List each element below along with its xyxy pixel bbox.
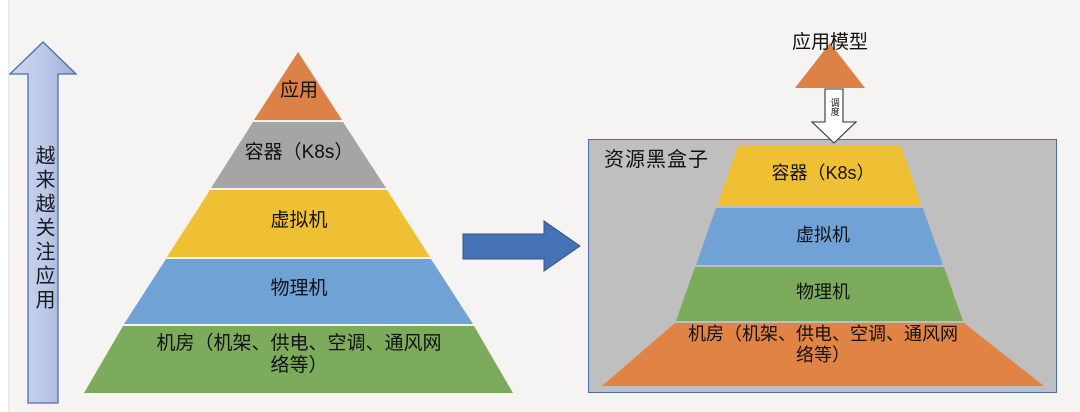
- schedule-arrow-label: 调度: [829, 98, 838, 116]
- trap-layer-2: [676, 267, 963, 321]
- trap-layer-1: [696, 208, 943, 265]
- transition-arrow: [462, 219, 582, 274]
- trap-layer-3: [602, 323, 1044, 386]
- up-arrow-icon: [8, 40, 78, 405]
- pyramid-layer-3: [124, 259, 473, 324]
- pyramid-shape: [83, 50, 515, 395]
- right-arrow-icon: [462, 219, 582, 274]
- trap-layer-0: [717, 146, 922, 206]
- infrastructure-pyramid: 应用 容器（K8s） 虚拟机 物理机 机房（机架、供电、空调、通风网 络等）: [83, 50, 515, 395]
- pyramid-layer-1: [211, 122, 386, 188]
- diagram-canvas: 越来越关注应用 应用 容器（K8s） 虚拟机 物理机 机房（机架、供电、空调、通…: [0, 0, 1080, 412]
- trapezoid-shape: [601, 145, 1045, 388]
- trend-up-arrow: 越来越关注应用: [8, 40, 78, 405]
- application-model-label: 应用模型: [786, 32, 874, 54]
- resource-trapezoid: 容器（K8s） 虚拟机 物理机 机房（机架、供电、空调、通风网 络等）: [601, 145, 1045, 388]
- schedule-arrow-label-wrap: 调度: [810, 98, 858, 118]
- pyramid-layer-2: [167, 190, 430, 257]
- pyramid-layer-4: [84, 326, 513, 393]
- pyramid-layer-0: [254, 52, 342, 120]
